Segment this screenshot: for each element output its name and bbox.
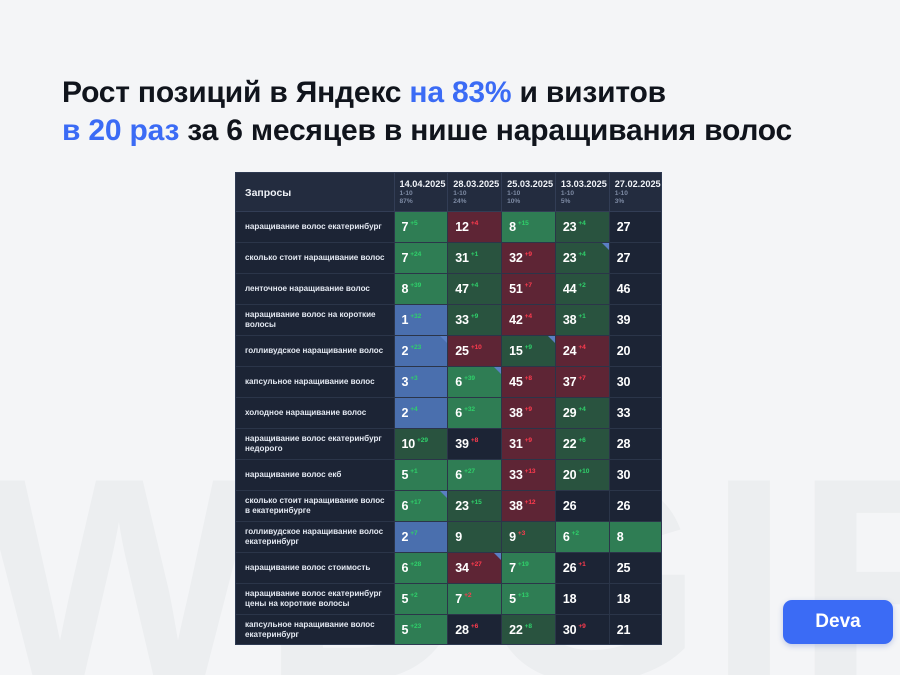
position-value: 28 xyxy=(617,437,631,451)
position-value: 26 xyxy=(563,499,577,513)
position-delta: +5 xyxy=(410,220,417,227)
position-delta: +7 xyxy=(578,375,585,382)
position-cell: 31+9 xyxy=(502,429,556,460)
position-cell: 3+3 xyxy=(394,367,448,398)
position-value: 31 xyxy=(509,437,523,451)
position-cell: 33 xyxy=(609,398,662,429)
column-range-label: 1-10 xyxy=(400,190,443,198)
column-percent-label: 10% xyxy=(507,198,550,206)
position-value: 25 xyxy=(455,344,469,358)
position-cell: 21 xyxy=(609,615,662,646)
position-cell: 29+4 xyxy=(555,398,609,429)
column-header-date-3: 25.03.20251-1010% xyxy=(502,173,556,212)
position-delta: +6 xyxy=(471,623,478,630)
position-value: 8 xyxy=(509,220,516,234)
position-value: 23 xyxy=(455,499,469,513)
position-cell: 33+9 xyxy=(448,305,502,336)
position-delta: +28 xyxy=(410,561,421,568)
position-value: 6 xyxy=(402,499,409,513)
position-cell: 7+19 xyxy=(502,553,556,584)
position-value: 9 xyxy=(509,530,516,544)
position-cell: 31+1 xyxy=(448,243,502,274)
position-delta: +4 xyxy=(410,406,417,413)
query-cell: сколько стоит наращивание волос в екатер… xyxy=(236,491,394,522)
position-value: 2 xyxy=(402,530,409,544)
rankings-table: Запросы 14.04.20251-1087%28.03.20251-102… xyxy=(236,173,662,645)
position-cell: 24+4 xyxy=(555,336,609,367)
position-value: 7 xyxy=(509,561,516,575)
position-cell: 22+8 xyxy=(502,615,556,646)
position-value: 25 xyxy=(617,561,631,575)
query-cell: наращивание волос на короткие волосы xyxy=(236,305,394,336)
position-value: 26 xyxy=(563,561,577,575)
table-header-row: Запросы 14.04.20251-1087%28.03.20251-102… xyxy=(236,173,662,212)
column-range-label: 1-10 xyxy=(453,190,496,198)
deva-cta-button[interactable]: Deva xyxy=(783,600,893,644)
position-cell: 6+32 xyxy=(448,398,502,429)
position-value: 28 xyxy=(455,623,469,637)
position-value: 38 xyxy=(509,406,523,420)
position-delta: +1 xyxy=(471,251,478,258)
position-cell: 38+9 xyxy=(502,398,556,429)
position-cell: 34+27 xyxy=(448,553,502,584)
position-value: 22 xyxy=(509,623,523,637)
position-value: 33 xyxy=(509,468,523,482)
position-cell: 6+2 xyxy=(555,522,609,553)
table-row[interactable]: наращивание волос стоимость6+2834+277+19… xyxy=(236,553,662,584)
position-delta: +39 xyxy=(410,282,421,289)
position-cell: 51+7 xyxy=(502,274,556,305)
position-value: 32 xyxy=(509,251,523,265)
position-delta: +12 xyxy=(525,499,536,506)
position-delta: +3 xyxy=(410,375,417,382)
position-value: 7 xyxy=(455,592,462,606)
position-cell: 42+4 xyxy=(502,305,556,336)
position-cell: 28+6 xyxy=(448,615,502,646)
position-cell: 39 xyxy=(609,305,662,336)
position-value: 1 xyxy=(402,313,409,327)
position-cell: 5+2 xyxy=(394,584,448,615)
column-percent-label: 3% xyxy=(615,198,658,206)
position-cell: 45+8 xyxy=(502,367,556,398)
position-cell: 18 xyxy=(555,584,609,615)
page-title: Рост позиций в Яндекс на 83% и визитов в… xyxy=(62,74,862,150)
position-delta: +1 xyxy=(410,468,417,475)
position-delta: +7 xyxy=(410,530,417,537)
position-delta: +4 xyxy=(578,406,585,413)
position-delta: +4 xyxy=(471,220,478,227)
position-value: 23 xyxy=(563,251,577,265)
table-row[interactable]: ленточное наращивание волос8+3947+451+74… xyxy=(236,274,662,305)
position-cell: 23+4 xyxy=(555,212,609,243)
position-cell: 2+7 xyxy=(394,522,448,553)
position-value: 24 xyxy=(563,344,577,358)
position-value: 29 xyxy=(563,406,577,420)
position-cell: 47+4 xyxy=(448,274,502,305)
position-cell: 6+28 xyxy=(394,553,448,584)
position-value: 9 xyxy=(455,530,462,544)
position-value: 27 xyxy=(617,220,631,234)
position-delta: +10 xyxy=(471,344,482,351)
position-value: 45 xyxy=(509,375,523,389)
position-value: 30 xyxy=(617,468,631,482)
position-value: 38 xyxy=(509,499,523,513)
position-cell: 26 xyxy=(609,491,662,522)
position-cell: 18 xyxy=(609,584,662,615)
column-date-label: 14.04.2025 xyxy=(400,179,443,190)
position-delta: +4 xyxy=(578,220,585,227)
position-value: 39 xyxy=(455,437,469,451)
position-delta: +15 xyxy=(471,499,482,506)
query-cell: голливудское наращивание волос екатеринб… xyxy=(236,522,394,553)
position-delta: +32 xyxy=(464,406,475,413)
position-cell: 44+2 xyxy=(555,274,609,305)
position-value: 6 xyxy=(402,561,409,575)
table-row[interactable]: голливудское наращивание волос2+2325+101… xyxy=(236,336,662,367)
position-delta: +13 xyxy=(525,468,536,475)
position-cell: 46 xyxy=(609,274,662,305)
position-delta: +2 xyxy=(572,530,579,537)
position-delta: +1 xyxy=(578,313,585,320)
position-value: 5 xyxy=(509,592,516,606)
position-cell: 26+1 xyxy=(555,553,609,584)
position-value: 27 xyxy=(617,251,631,265)
column-percent-label: 87% xyxy=(400,198,443,206)
position-cell: 39+8 xyxy=(448,429,502,460)
position-delta: +4 xyxy=(471,282,478,289)
position-cell: 9+3 xyxy=(502,522,556,553)
position-delta: +10 xyxy=(578,468,589,475)
position-value: 2 xyxy=(402,344,409,358)
position-delta: +27 xyxy=(471,561,482,568)
position-value: 5 xyxy=(402,468,409,482)
position-cell: 23+15 xyxy=(448,491,502,522)
position-cell: 2+23 xyxy=(394,336,448,367)
position-value: 7 xyxy=(402,251,409,265)
table-row[interactable]: наращивание волос екатеринбург7+512+48+1… xyxy=(236,212,662,243)
column-percent-label: 5% xyxy=(561,198,604,206)
position-value: 6 xyxy=(563,530,570,544)
slide-canvas: WDGIR Рост позиций в Яндекс на 83% и виз… xyxy=(0,0,900,675)
column-percent-label: 24% xyxy=(453,198,496,206)
position-delta: +1 xyxy=(578,561,585,568)
position-value: 3 xyxy=(402,375,409,389)
position-cell: 38+1 xyxy=(555,305,609,336)
position-value: 21 xyxy=(617,623,631,637)
column-date-label: 27.02.2025 xyxy=(615,179,658,190)
table-header: Запросы 14.04.20251-1087%28.03.20251-102… xyxy=(236,173,662,212)
position-cell: 33+13 xyxy=(502,460,556,491)
position-cell: 32+9 xyxy=(502,243,556,274)
table-row[interactable]: капсульное наращивание волос3+36+3945+83… xyxy=(236,367,662,398)
position-cell: 5+13 xyxy=(502,584,556,615)
position-value: 30 xyxy=(563,623,577,637)
position-cell: 8+15 xyxy=(502,212,556,243)
query-cell: холодное наращивание волос xyxy=(236,398,394,429)
position-delta: +3 xyxy=(518,530,525,537)
column-range-label: 1-10 xyxy=(615,190,658,198)
position-cell: 27 xyxy=(609,212,662,243)
position-cell: 9 xyxy=(448,522,502,553)
position-value: 8 xyxy=(617,530,624,544)
query-cell: наращивание волос екатеринбург xyxy=(236,212,394,243)
position-cell: 7+24 xyxy=(394,243,448,274)
query-cell: наращивание волос екатеринбург цены на к… xyxy=(236,584,394,615)
position-delta: +19 xyxy=(518,561,529,568)
position-delta: +39 xyxy=(464,375,475,382)
position-cell: 38+12 xyxy=(502,491,556,522)
position-cell: 6+39 xyxy=(448,367,502,398)
position-value: 38 xyxy=(563,313,577,327)
position-value: 10 xyxy=(402,437,416,451)
position-delta: +2 xyxy=(410,592,417,599)
position-cell: 12+4 xyxy=(448,212,502,243)
query-cell: капсульное наращивание волос екатеринбур… xyxy=(236,615,394,646)
position-cell: 1+32 xyxy=(394,305,448,336)
position-cell: 20+10 xyxy=(555,460,609,491)
position-cell: 5+23 xyxy=(394,615,448,646)
table-row[interactable]: холодное наращивание волос2+46+3238+929+… xyxy=(236,398,662,429)
headline-part-3: за 6 месяцев в нише наращивания волос xyxy=(179,114,792,147)
position-cell: 5+1 xyxy=(394,460,448,491)
position-value: 6 xyxy=(455,406,462,420)
position-delta: +2 xyxy=(578,282,585,289)
position-delta: +17 xyxy=(410,499,421,506)
column-header-queries: Запросы xyxy=(236,173,394,212)
column-date-label: 28.03.2025 xyxy=(453,179,496,190)
position-value: 26 xyxy=(617,499,631,513)
column-header-date-2: 28.03.20251-1024% xyxy=(448,173,502,212)
position-cell: 10+29 xyxy=(394,429,448,460)
position-value: 33 xyxy=(617,406,631,420)
position-cell: 30 xyxy=(609,460,662,491)
position-cell: 37+7 xyxy=(555,367,609,398)
position-cell: 2+4 xyxy=(394,398,448,429)
position-value: 47 xyxy=(455,282,469,296)
position-cell: 15+9 xyxy=(502,336,556,367)
position-value: 39 xyxy=(617,313,631,327)
position-cell: 7+2 xyxy=(448,584,502,615)
query-cell: сколько стоит наращивание волос xyxy=(236,243,394,274)
table-row[interactable]: наращивание волос на короткие волосы1+32… xyxy=(236,305,662,336)
position-cell: 30+9 xyxy=(555,615,609,646)
position-value: 37 xyxy=(563,375,577,389)
headline-highlight-83: на 83% xyxy=(409,76,511,109)
position-delta: +15 xyxy=(518,220,529,227)
position-delta: +23 xyxy=(410,623,421,630)
position-delta: +9 xyxy=(578,623,585,630)
position-delta: +9 xyxy=(525,344,532,351)
position-delta: +9 xyxy=(525,437,532,444)
position-value: 7 xyxy=(402,220,409,234)
position-value: 12 xyxy=(455,220,469,234)
position-delta: +8 xyxy=(471,437,478,444)
position-value: 6 xyxy=(455,468,462,482)
query-cell: капсульное наращивание волос xyxy=(236,367,394,398)
query-cell: наращивание волос екатеринбург недорого xyxy=(236,429,394,460)
column-header-date-1: 14.04.20251-1087% xyxy=(394,173,448,212)
table-row[interactable]: наращивание волос екатеринбург цены на к… xyxy=(236,584,662,615)
position-delta: +13 xyxy=(518,592,529,599)
position-delta: +4 xyxy=(525,313,532,320)
position-value: 20 xyxy=(563,468,577,482)
position-value: 22 xyxy=(563,437,577,451)
position-value: 33 xyxy=(455,313,469,327)
position-value: 46 xyxy=(617,282,631,296)
position-delta: +9 xyxy=(525,406,532,413)
query-cell: наращивание волос стоимость xyxy=(236,553,394,584)
position-value: 5 xyxy=(402,592,409,606)
position-value: 23 xyxy=(563,220,577,234)
position-cell: 27 xyxy=(609,243,662,274)
position-value: 15 xyxy=(509,344,523,358)
position-cell: 8 xyxy=(609,522,662,553)
position-cell: 22+6 xyxy=(555,429,609,460)
position-cell: 7+5 xyxy=(394,212,448,243)
position-value: 6 xyxy=(455,375,462,389)
position-cell: 20 xyxy=(609,336,662,367)
query-cell: наращивание волос екб xyxy=(236,460,394,491)
headline-highlight-20x: в 20 раз xyxy=(62,114,179,147)
position-cell: 25 xyxy=(609,553,662,584)
table-row[interactable]: сколько стоит наращивание волос в екатер… xyxy=(236,491,662,522)
headline-part-2: и визитов xyxy=(511,76,665,109)
column-range-label: 1-10 xyxy=(507,190,550,198)
position-delta: +7 xyxy=(525,282,532,289)
column-date-label: 13.03.2025 xyxy=(561,179,604,190)
position-delta: +9 xyxy=(525,251,532,258)
position-delta: +9 xyxy=(471,313,478,320)
position-cell: 6+17 xyxy=(394,491,448,522)
query-cell: голливудское наращивание волос xyxy=(236,336,394,367)
column-date-label: 25.03.2025 xyxy=(507,179,550,190)
position-delta: +27 xyxy=(464,468,475,475)
position-value: 2 xyxy=(402,406,409,420)
position-value: 20 xyxy=(617,344,631,358)
position-delta: +32 xyxy=(410,313,421,320)
position-delta: +4 xyxy=(578,251,585,258)
table-row[interactable]: голливудское наращивание волос екатеринб… xyxy=(236,522,662,553)
table-body: наращивание волос екатеринбург7+512+48+1… xyxy=(236,212,662,646)
position-value: 31 xyxy=(455,251,469,265)
position-value: 34 xyxy=(455,561,469,575)
position-cell: 25+10 xyxy=(448,336,502,367)
column-header-date-5: 27.02.20251-103% xyxy=(609,173,662,212)
position-value: 5 xyxy=(402,623,409,637)
position-value: 44 xyxy=(563,282,577,296)
position-delta: +4 xyxy=(578,344,585,351)
table-row[interactable]: наращивание волос екатеринбург недорого1… xyxy=(236,429,662,460)
position-value: 18 xyxy=(617,592,631,606)
position-delta: +2 xyxy=(464,592,471,599)
column-header-date-4: 13.03.20251-105% xyxy=(555,173,609,212)
position-value: 8 xyxy=(402,282,409,296)
position-value: 51 xyxy=(509,282,523,296)
position-cell: 6+27 xyxy=(448,460,502,491)
rankings-table-card: Запросы 14.04.20251-1087%28.03.20251-102… xyxy=(235,172,662,645)
position-delta: +8 xyxy=(525,375,532,382)
position-value: 42 xyxy=(509,313,523,327)
headline-part-1: Рост позиций в Яндекс xyxy=(62,76,409,109)
position-value: 30 xyxy=(617,375,631,389)
position-delta: +23 xyxy=(410,344,421,351)
position-value: 18 xyxy=(563,592,577,606)
position-cell: 8+39 xyxy=(394,274,448,305)
position-cell: 30 xyxy=(609,367,662,398)
position-delta: +6 xyxy=(578,437,585,444)
position-cell: 28 xyxy=(609,429,662,460)
table-row[interactable]: капсульное наращивание волос екатеринбур… xyxy=(236,615,662,646)
query-cell: ленточное наращивание волос xyxy=(236,274,394,305)
position-cell: 26 xyxy=(555,491,609,522)
position-delta: +29 xyxy=(417,437,428,444)
position-cell: 23+4 xyxy=(555,243,609,274)
table-row[interactable]: сколько стоит наращивание волос7+2431+13… xyxy=(236,243,662,274)
table-row[interactable]: наращивание волос екб5+16+2733+1320+1030 xyxy=(236,460,662,491)
column-range-label: 1-10 xyxy=(561,190,604,198)
position-delta: +24 xyxy=(410,251,421,258)
position-delta: +8 xyxy=(525,623,532,630)
